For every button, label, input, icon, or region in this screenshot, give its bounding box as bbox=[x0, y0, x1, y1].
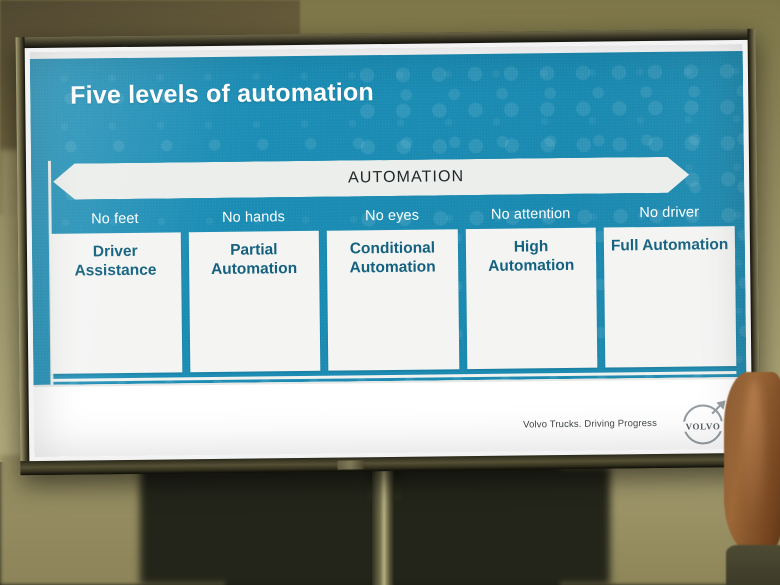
level-caption: No attention bbox=[465, 203, 596, 229]
volvo-wordmark-bar: VOLVO bbox=[680, 421, 726, 432]
person-arm-highlight bbox=[744, 380, 764, 530]
footer-tagline: Volvo Trucks. Driving Progress bbox=[523, 418, 657, 431]
lg-brand-logo-icon bbox=[337, 460, 363, 469]
level-name: Partial Automation bbox=[194, 241, 315, 280]
volvo-wordmark: VOLVO bbox=[686, 421, 721, 431]
slide-blue-panel: Five levels of automation AUTOMATION No … bbox=[30, 51, 747, 385]
level-column-2: No hands Partial Automation bbox=[188, 206, 320, 372]
level-name: Full Automation bbox=[611, 236, 729, 256]
photo-scene: Five levels of automation AUTOMATION No … bbox=[0, 0, 780, 585]
arrow-label: AUTOMATION bbox=[53, 157, 689, 200]
level-caption: No eyes bbox=[327, 204, 458, 230]
automation-arrow: AUTOMATION bbox=[53, 157, 689, 200]
slide-title: Five levels of automation bbox=[70, 78, 374, 110]
level-box: Driver Assistance bbox=[50, 232, 182, 373]
television: Five levels of automation AUTOMATION No … bbox=[16, 29, 761, 475]
level-caption: No feet bbox=[49, 207, 180, 233]
level-column-1: No feet Driver Assistance bbox=[49, 207, 181, 373]
volvo-iron-mark-icon: VOLVO bbox=[683, 397, 730, 444]
level-box: Partial Automation bbox=[188, 231, 320, 372]
level-box: Conditional Automation bbox=[327, 229, 459, 370]
tv-screen: Five levels of automation AUTOMATION No … bbox=[30, 44, 748, 457]
level-box: Full Automation bbox=[604, 226, 736, 367]
tv-screen-frame: Five levels of automation AUTOMATION No … bbox=[25, 40, 753, 461]
level-box: High Automation bbox=[466, 228, 598, 369]
person-sleeve bbox=[726, 545, 780, 585]
level-name: Conditional Automation bbox=[332, 239, 453, 278]
slide-footer: Volvo Trucks. Driving Progress VOLVO bbox=[33, 377, 747, 457]
level-name: Driver Assistance bbox=[55, 242, 176, 281]
level-column-5: No driver Full Automation bbox=[604, 201, 736, 367]
presentation-slide: Five levels of automation AUTOMATION No … bbox=[30, 44, 748, 457]
level-column-4: No attention High Automation bbox=[465, 203, 597, 369]
levels-columns: No feet Driver Assistance No hands Parti… bbox=[49, 201, 736, 374]
tv-stand-pole bbox=[372, 470, 394, 585]
level-caption: No hands bbox=[188, 206, 319, 232]
level-name: High Automation bbox=[471, 238, 592, 277]
level-caption: No driver bbox=[604, 201, 735, 227]
level-column-3: No eyes Conditional Automation bbox=[327, 204, 459, 370]
